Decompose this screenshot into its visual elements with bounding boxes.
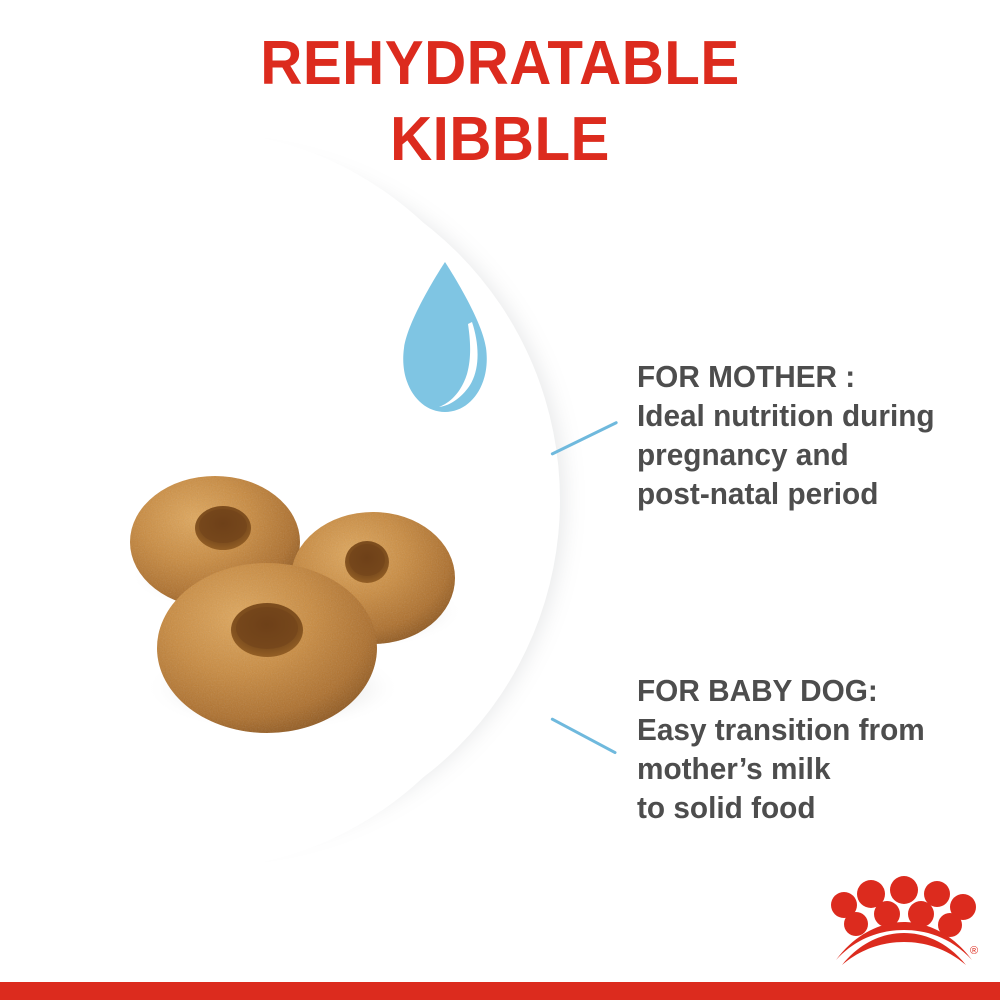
benefit-line-mother-2: pregnancy and	[637, 435, 963, 474]
title-line-2: KIBBLE	[30, 102, 970, 178]
benefit-line-baby-dog-1: Easy transition from	[637, 710, 963, 749]
footer-bar	[0, 982, 1000, 1000]
page-title: REHYDRATABLE KIBBLE	[0, 26, 1000, 178]
benefit-heading-baby-dog: FOR BABY DOG:	[637, 671, 963, 710]
connector-line-mother	[550, 421, 618, 456]
benefit-block-mother: FOR MOTHER : Ideal nutrition during preg…	[637, 357, 977, 513]
benefit-heading-mother: FOR MOTHER :	[637, 357, 963, 396]
infographic-canvas: REHYDRATABLE KIBBLE	[0, 0, 1000, 1000]
registered-trademark-symbol: ®	[970, 945, 978, 957]
kibble-photo	[95, 430, 495, 810]
royal-canin-crown-logo: ®	[828, 872, 980, 968]
connector-line-baby-dog	[550, 717, 617, 754]
benefit-block-baby-dog: FOR BABY DOG: Easy transition from mothe…	[637, 671, 977, 827]
title-line-1: REHYDRATABLE	[30, 26, 970, 102]
benefit-line-mother-1: Ideal nutrition during	[637, 396, 963, 435]
water-droplet-icon	[398, 260, 492, 416]
benefit-line-mother-3: post-natal period	[637, 474, 963, 513]
benefit-line-baby-dog-3: to solid food	[637, 788, 963, 827]
benefit-line-baby-dog-2: mother’s milk	[637, 749, 963, 788]
